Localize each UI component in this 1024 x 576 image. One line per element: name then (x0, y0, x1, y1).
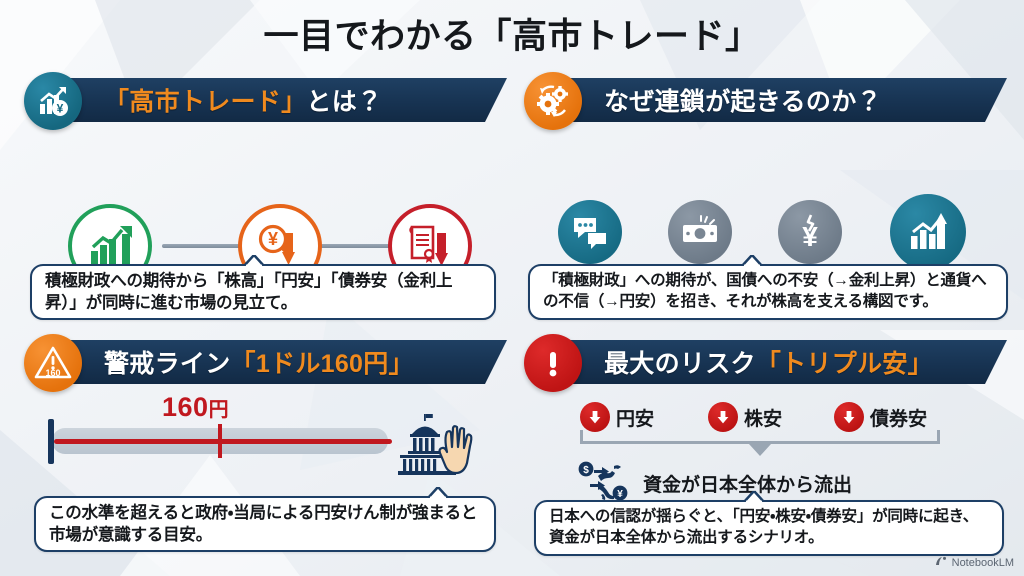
svg-text:¥: ¥ (802, 221, 818, 251)
risk-chip-label: 株安 (744, 404, 782, 431)
icon-broken-yen: ¥ (778, 200, 842, 264)
page-title: 一目でわかる「高市トレード」 (0, 8, 1024, 59)
gauge-red-line (54, 439, 392, 444)
panel-title-rest: 最大のリスク (604, 344, 756, 380)
icon-stock-up-teal (890, 194, 966, 270)
convergence-arrow (749, 444, 771, 456)
warning-triangle-160-icon: 160 (24, 334, 82, 392)
arrow-down-icon (708, 402, 738, 432)
gauge-left-endcap (48, 419, 54, 464)
gauge-marker-value: 160 (162, 392, 209, 422)
panel-title-rest: 警戒ライン (104, 344, 231, 380)
panel-title-what-is: 「高市トレード」とは？ (104, 78, 382, 122)
panel-header-what-is: ¥ 「高市トレード」とは？ (22, 72, 514, 132)
connector-line (162, 244, 240, 248)
panel-header-why-chain: なぜ連鎖が起きるのか？ (522, 72, 1014, 132)
infographic-canvas: 一目でわかる「高市トレード」 ¥ 「高市トレード」とは？ (0, 0, 1024, 576)
gauge-threshold-tick (218, 424, 222, 458)
svg-text:¥: ¥ (617, 489, 623, 500)
notebooklm-logo-icon (935, 556, 948, 570)
panel-alert-line: 160 警戒ライン「1ドル160円」 160円 (22, 334, 514, 566)
usd-jpy-gauge: 160円 (22, 394, 514, 494)
government-building-stop-hand-icon (392, 412, 484, 489)
panel-title-highlight: 「1ドル160円」 (231, 344, 414, 380)
icon-speech-bubbles (558, 200, 622, 264)
caption-text: 「積極財政」への期待が、国債への不安（→金利上昇）と通貨への不信（→円安）を招き… (543, 271, 993, 313)
panel-title-highlight: 「高市トレード」 (104, 82, 306, 118)
arrow-down-icon (580, 402, 610, 432)
risk-chip-yen: 円安 (580, 402, 654, 432)
arrow-down-icon (834, 402, 864, 432)
svg-text:$: $ (583, 465, 589, 476)
caption-what-is: 積極財政への期待から「株高」「円安」「債券安（金利上昇）」が同時に進む市場の見立… (30, 264, 496, 320)
caption-text: この水準を超えると政府・当局による円安けん制が強まると市場が意識する目安。 (49, 502, 481, 546)
caption-biggest-risk: 日本への信認が揺らぐと、「円安・株安・債券安」が同時に起き、資金が日本全体から流… (534, 500, 1004, 556)
convergence-bracket (580, 430, 940, 444)
panel-why-chain: なぜ連鎖が起きるのか？ 「積極財政」への期待 (522, 72, 1014, 326)
balloon-notch (744, 491, 764, 502)
why-chain-icon-row: 「積極財政」への期待 国債への不安（→金利上昇） (522, 132, 1014, 252)
panel-title-rest: とは？ (306, 82, 382, 118)
what-is-icon-row: 株高 ¥ 円安 (22, 132, 514, 252)
balloon-notch (244, 255, 264, 266)
exclamation-icon (524, 334, 582, 392)
caption-text: 日本への信認が揺らぐと、「円安・株安・債券安」が同時に起き、資金が日本全体から流… (549, 507, 989, 549)
risk-chip-label: 債券安 (870, 404, 927, 431)
gears-icon (524, 72, 582, 130)
risk-chip-bond: 債券安 (834, 402, 927, 432)
balloon-notch (742, 255, 762, 266)
risk-chip-stock: 株安 (708, 402, 782, 432)
panel-title-why-chain: なぜ連鎖が起きるのか？ (604, 78, 882, 122)
icon-banknote (668, 200, 732, 264)
panel-header-biggest-risk: 最大のリスク「トリプル安」 (522, 334, 1014, 394)
gauge-marker-label: 160円 (162, 392, 229, 423)
svg-text:¥: ¥ (268, 229, 278, 249)
panel-title-rest: なぜ連鎖が起きるのか？ (604, 82, 882, 118)
panel-biggest-risk: 最大のリスク「トリプル安」 円安 株安 債券安 (522, 334, 1014, 566)
caption-alert-line: この水準を超えると政府・当局による円安けん制が強まると市場が意識する目安。 (34, 496, 496, 552)
panel-title-alert-line: 警戒ライン「1ドル160円」 (104, 340, 414, 384)
chart-yen-icon: ¥ (24, 72, 82, 130)
watermark: NotebookLM (935, 556, 1014, 570)
panel-title-highlight: 「トリプル安」 (756, 344, 933, 380)
caption-text: 積極財政への期待から「株高」「円安」「債券安（金利上昇）」が同時に進む市場の見立… (45, 270, 481, 314)
panel-header-alert-line: 160 警戒ライン「1ドル160円」 (22, 334, 514, 394)
caption-why-chain: 「積極財政」への期待が、国債への不安（→金利上昇）と通貨への不信（→円安）を招き… (528, 264, 1008, 320)
balloon-notch (428, 487, 448, 498)
gauge-marker-unit: 円 (209, 399, 230, 421)
risk-chip-label: 円安 (616, 404, 654, 431)
watermark-label: NotebookLM (952, 557, 1014, 569)
svg-text:160: 160 (45, 368, 60, 378)
connector-line (312, 244, 390, 248)
panel-title-biggest-risk: 最大のリスク「トリプル安」 (604, 340, 933, 384)
svg-text:¥: ¥ (57, 102, 64, 116)
panel-what-is-takaichi-trade: ¥ 「高市トレード」とは？ 株高 (22, 72, 514, 326)
